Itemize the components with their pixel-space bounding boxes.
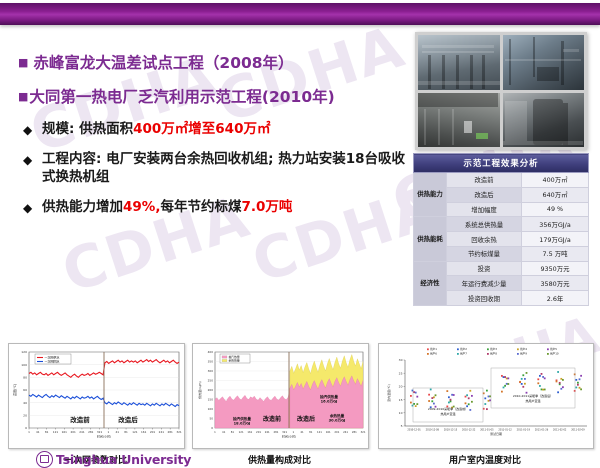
list-item: ◆ 规模: 供热面积400万㎡增至640万㎡ xyxy=(42,120,408,139)
cell-label: 增加幅度 xyxy=(447,202,522,217)
svg-text:改造后: 改造后 xyxy=(118,415,138,424)
caption-chart2: 供热量构成对比 xyxy=(192,453,367,466)
bullet-text-plain: 供热能力增加 xyxy=(42,199,123,215)
svg-text:241: 241 xyxy=(265,430,270,434)
photo-grid xyxy=(415,32,587,150)
svg-text:150: 150 xyxy=(208,398,214,402)
svg-text:20: 20 xyxy=(23,414,27,418)
caption-chart3: 用户室内温度对比 xyxy=(378,453,592,466)
svg-text:321: 321 xyxy=(97,430,103,434)
cell-label: 投资回收期 xyxy=(447,291,522,306)
bullet-text-plain: 每年节约标煤 xyxy=(160,199,241,215)
svg-text:121: 121 xyxy=(53,430,59,434)
svg-text:2011-01-19: 2011-01-19 xyxy=(517,429,531,432)
svg-text:50: 50 xyxy=(209,417,213,421)
svg-text:2011-02-02: 2011-02-02 xyxy=(553,429,567,432)
svg-text:25: 25 xyxy=(399,371,403,375)
svg-text:用户3: 用户3 xyxy=(490,347,497,351)
svg-text:时间(小时): 时间(小时) xyxy=(97,434,111,439)
svg-text:5: 5 xyxy=(401,424,403,428)
chart-indoor-temperature: 510152025302010-12-012010-12-082010-12-1… xyxy=(378,343,594,449)
svg-text:241: 241 xyxy=(343,430,348,434)
svg-text:201: 201 xyxy=(256,430,261,434)
bullet-list: ◆ 规模: 供热面积400万㎡增至640万㎡ ◆ 工程内容: 电厂安装两台余热回… xyxy=(18,120,408,216)
svg-text:350: 350 xyxy=(208,360,214,364)
svg-text:抽汽供热量: 抽汽供热量 xyxy=(232,416,251,421)
svg-text:200: 200 xyxy=(208,388,214,392)
photo-heat-recovery-units xyxy=(503,35,585,90)
svg-text:余热热量: 余热热量 xyxy=(229,359,240,363)
svg-text:用户9: 用户9 xyxy=(520,352,527,356)
svg-text:201: 201 xyxy=(150,430,156,434)
cell-value: 179万GJ/a xyxy=(522,232,589,247)
svg-text:1: 1 xyxy=(28,430,30,434)
svg-text:用户8: 用户8 xyxy=(490,352,497,356)
svg-text:161: 161 xyxy=(141,430,147,434)
svg-text:201: 201 xyxy=(334,430,339,434)
square-bullet-icon: ■ xyxy=(18,90,28,103)
svg-text:41: 41 xyxy=(222,430,226,434)
results-table: 示范工程效果分析 供热能力 改造前 400万㎡ 改造后 640万㎡ 增加幅度 4… xyxy=(413,153,589,306)
bullet-text-plain: 工程内容: 电厂安装两台余热回收机组; 热力站安装18台吸收式换热机组 xyxy=(42,151,405,186)
svg-text:抽汽供热量: 抽汽供热量 xyxy=(319,394,338,399)
slide-content: ■赤峰富龙大温差试点工程（2008年） ■大同第一热电厂乏汽利用示范工程(201… xyxy=(0,25,600,450)
table-row: 经济性 投资 9350万元 xyxy=(414,261,589,276)
svg-text:81: 81 xyxy=(309,430,313,434)
svg-text:281: 281 xyxy=(168,430,174,434)
svg-text:用户2: 用户2 xyxy=(460,347,467,351)
svg-text:121: 121 xyxy=(132,430,138,434)
svg-text:15: 15 xyxy=(399,398,403,402)
text-column: ■赤峰富龙大温差试点工程（2008年） ■大同第一热电厂乏汽利用示范工程(201… xyxy=(18,53,408,227)
svg-text:用户5: 用户5 xyxy=(550,347,557,351)
svg-text:16.0万GJ: 16.0万GJ xyxy=(321,399,338,404)
svg-text:250: 250 xyxy=(208,379,214,383)
heading-project-1-text: 赤峰富龙大温差试点工程（2008年） xyxy=(33,54,293,72)
svg-text:161: 161 xyxy=(62,430,68,434)
svg-text:281: 281 xyxy=(88,430,94,434)
table-title: 示范工程效果分析 xyxy=(414,154,589,173)
svg-text:20: 20 xyxy=(399,385,403,389)
svg-text:80: 80 xyxy=(23,376,27,380)
svg-text:用户10: 用户10 xyxy=(550,352,559,356)
svg-text:1: 1 xyxy=(293,430,295,434)
cell-value: 356万GJ/a xyxy=(522,217,589,232)
svg-text:改造后: 改造后 xyxy=(297,415,315,423)
svg-text:2010-12-08: 2010-12-08 xyxy=(426,429,440,432)
svg-text:241: 241 xyxy=(159,430,165,434)
square-bullet-icon: ■ xyxy=(18,56,28,69)
svg-text:321: 321 xyxy=(282,430,287,434)
cell-value: 640万㎡ xyxy=(522,187,589,202)
diamond-bullet-icon: ◆ xyxy=(23,151,32,170)
svg-text:2010-2011采暖季（改造后）: 2010-2011采暖季（改造后） xyxy=(513,393,553,398)
photo-plant-exterior-pipes xyxy=(418,35,500,90)
bullet-text-highlight: 49%, xyxy=(123,199,160,215)
cell-value: 3580万元 xyxy=(522,276,589,291)
svg-text:用户6: 用户6 xyxy=(430,352,437,356)
list-item: ◆ 工程内容: 电厂安装两台余热回收机组; 热力站安装18台吸收式换热机组 xyxy=(42,150,408,187)
table-row: 供热能耗 系统总供热量 356万GJ/a xyxy=(414,217,589,232)
svg-text:60: 60 xyxy=(23,388,27,392)
cell-label: 系统总供热量 xyxy=(447,217,522,232)
cell-label: 年运行费减少量 xyxy=(447,276,522,291)
svg-text:321: 321 xyxy=(361,430,366,434)
svg-text:121: 121 xyxy=(239,430,244,434)
bullet-text-highlight: 400万㎡增至640万㎡ xyxy=(133,121,270,137)
svg-text:81: 81 xyxy=(231,430,235,434)
bullet-text-highlight: 7.0万吨 xyxy=(241,199,292,215)
chart-heat-composition: 0501001502002503003504001418112116120124… xyxy=(192,343,369,449)
tsinghua-logo: Tsinghua University xyxy=(36,451,191,468)
cell-label: 节约标煤量 xyxy=(447,246,522,261)
svg-text:2011-02-09: 2011-02-09 xyxy=(571,429,585,432)
photo-plant-interior-wall xyxy=(418,93,500,148)
svg-text:改造前: 改造前 xyxy=(263,415,281,423)
row-group-label: 供热能耗 xyxy=(414,217,447,261)
cell-value: 7.5 万吨 xyxy=(522,246,589,261)
svg-text:改造前: 改造前 xyxy=(70,415,90,424)
svg-text:281: 281 xyxy=(352,430,357,434)
table-row: 供热能力 改造前 400万㎡ xyxy=(414,173,589,188)
svg-text:2010-12-22: 2010-12-22 xyxy=(462,429,476,432)
cell-label: 改造后 xyxy=(447,187,522,202)
svg-text:241: 241 xyxy=(79,430,85,434)
cell-value: 9350万元 xyxy=(522,261,589,276)
svg-text:时间(小时): 时间(小时) xyxy=(282,434,296,439)
svg-text:321: 321 xyxy=(176,430,182,434)
svg-text:100: 100 xyxy=(21,363,27,367)
svg-text:161: 161 xyxy=(247,430,252,434)
svg-text:100: 100 xyxy=(208,407,214,411)
svg-text:201: 201 xyxy=(70,430,76,434)
cell-label: 改造前 xyxy=(447,173,522,188)
cell-label: 回收余热 xyxy=(447,232,522,247)
svg-text:400: 400 xyxy=(208,350,214,354)
svg-text:室内温度(℃): 室内温度(℃) xyxy=(386,384,391,402)
chart1-svg: 0204060801001201418112116120124128132114… xyxy=(9,344,184,448)
svg-text:供热量(GJ/h): 供热量(GJ/h) xyxy=(197,381,202,398)
svg-text:30: 30 xyxy=(399,358,403,362)
svg-text:1: 1 xyxy=(108,430,110,434)
cell-value: 400万㎡ xyxy=(522,173,589,188)
svg-text:120: 120 xyxy=(21,350,27,354)
row-group-label: 供热能力 xyxy=(414,173,447,217)
svg-text:81: 81 xyxy=(45,430,49,434)
svg-text:30.0万GJ: 30.0万GJ xyxy=(329,418,346,423)
svg-text:一次网回水: 一次网回水 xyxy=(45,359,60,364)
results-table-wrap: 示范工程效果分析 供热能力 改造前 400万㎡ 改造后 640万㎡ 增加幅度 4… xyxy=(413,153,589,306)
svg-text:用户1: 用户1 xyxy=(430,347,437,351)
svg-text:41: 41 xyxy=(300,430,304,434)
svg-text:41: 41 xyxy=(115,430,119,434)
svg-text:0: 0 xyxy=(25,426,27,430)
svg-text:300: 300 xyxy=(208,369,214,373)
svg-text:余热热量: 余热热量 xyxy=(329,413,345,418)
svg-text:2010-12-01: 2010-12-01 xyxy=(407,429,421,432)
chart-primary-network-parameters: 0204060801001201418112116120124128132114… xyxy=(8,343,185,449)
svg-text:2011-01-26: 2011-01-26 xyxy=(535,429,549,432)
svg-text:81: 81 xyxy=(124,430,128,434)
tsinghua-seal-icon xyxy=(36,451,53,468)
list-item: ◆ 供热能力增加49%,每年节约标煤7.0万吨 xyxy=(42,198,408,217)
cell-value: 2.6年 xyxy=(522,291,589,306)
svg-text:40: 40 xyxy=(23,401,27,405)
chart3-svg: 510152025302010-12-012010-12-082010-12-1… xyxy=(379,344,593,448)
svg-text:281: 281 xyxy=(273,430,278,434)
svg-text:121: 121 xyxy=(317,430,322,434)
svg-text:41: 41 xyxy=(36,430,40,434)
bullet-text-plain: 规模: 供热面积 xyxy=(42,121,133,137)
row-group-label: 经济性 xyxy=(414,261,447,305)
svg-text:热用户室温: 热用户室温 xyxy=(440,411,455,416)
diamond-bullet-icon: ◆ xyxy=(23,121,32,140)
svg-text:2009-2010采暖季（改造前）: 2009-2010采暖季（改造前） xyxy=(428,406,468,411)
svg-text:1: 1 xyxy=(214,430,216,434)
heading-project-1: ■赤峰富龙大温差试点工程（2008年） xyxy=(18,53,408,73)
tsinghua-logo-text: Tsinghua University xyxy=(56,452,191,467)
svg-text:10: 10 xyxy=(399,411,403,415)
heading-project-2: ■大同第一热电厂乏汽利用示范工程(2010年) xyxy=(18,87,408,107)
svg-text:18.0万GJ: 18.0万GJ xyxy=(234,421,251,426)
diamond-bullet-icon: ◆ xyxy=(23,199,32,218)
svg-text:测试日期: 测试日期 xyxy=(490,431,502,436)
svg-text:2010-12-15: 2010-12-15 xyxy=(444,429,458,432)
svg-text:热用户室温: 热用户室温 xyxy=(525,398,540,403)
svg-text:用户7: 用户7 xyxy=(460,352,467,356)
slide-top-banner xyxy=(0,3,600,25)
chart2-svg: 0501001502002503003504001418112116120124… xyxy=(193,344,368,448)
svg-text:温度(℃): 温度(℃) xyxy=(12,384,17,396)
cell-label: 投资 xyxy=(447,261,522,276)
cell-value: 49 % xyxy=(522,202,589,217)
svg-text:0: 0 xyxy=(211,426,213,430)
photo-absorption-heat-exchanger xyxy=(503,93,585,148)
svg-text:161: 161 xyxy=(326,430,331,434)
heading-project-2-text: 大同第一热电厂乏汽利用示范工程(2010年) xyxy=(29,88,334,106)
svg-text:用户4: 用户4 xyxy=(520,347,527,351)
